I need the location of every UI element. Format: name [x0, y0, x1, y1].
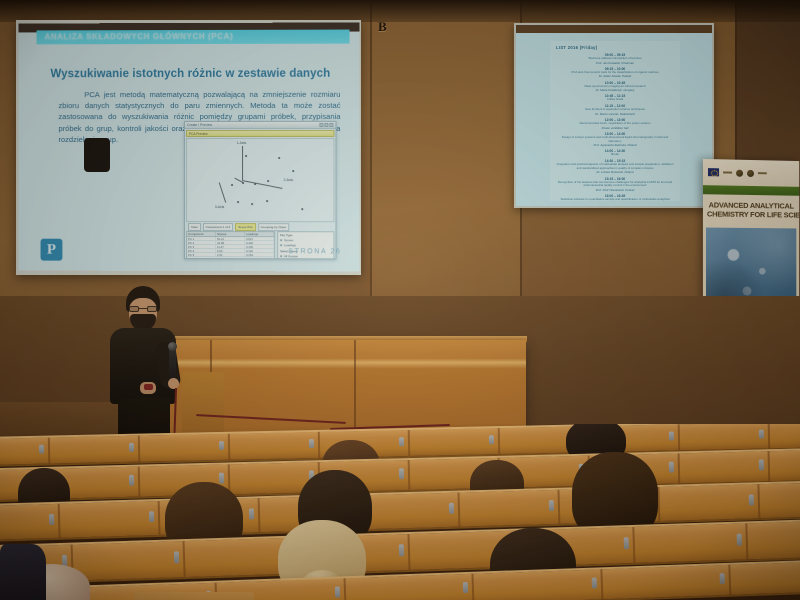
cell-scores: 54.21	[216, 237, 245, 240]
institution-mark-logo	[736, 168, 743, 177]
seat	[747, 520, 800, 560]
agenda-item: 14:00 – 14:30 Break	[556, 149, 674, 157]
plot-axis-3-line	[219, 182, 227, 203]
app-address-bar[interactable]: PCA Preview	[186, 130, 334, 137]
plot-type-label: Plot Type	[280, 233, 331, 237]
plot-point	[301, 208, 303, 210]
pca-score-plot[interactable]: 1-Axis 2-Axis 3-Axis	[186, 138, 334, 222]
seat-clip	[669, 432, 674, 441]
plot-axis-label-1: 1-Axis	[237, 141, 246, 145]
banner-logo-strip	[703, 159, 799, 187]
glasses-lens-right	[147, 306, 157, 312]
column-header-scores: Scores	[216, 232, 245, 236]
radio-icon[interactable]	[280, 239, 283, 242]
radio-icon[interactable]	[280, 244, 283, 247]
glasses-bridge	[139, 308, 147, 309]
seat-clip	[399, 437, 404, 446]
projection-screen-secondary: LIST 2016 (Friday) 09:00 – 09:15 Welcome…	[514, 23, 714, 208]
agenda-speaker: Prof. Agnieszka Zielinska, Poland	[556, 143, 674, 147]
agenda-speaker: Dr. Lukasz Rozanski, Poland	[556, 170, 674, 174]
presentation-clicker	[144, 384, 153, 390]
close-button[interactable]	[329, 123, 333, 127]
seat-clip	[399, 469, 404, 479]
agenda-item: 10:45 – 11:15 Coffee break	[556, 94, 674, 102]
agenda-speaker: Dr. Marco Lanotte, Switzerland	[556, 112, 674, 116]
seat-clip	[129, 475, 134, 485]
seat	[770, 449, 800, 481]
seat	[72, 541, 186, 581]
projection-screen-main: ANALIZA SKŁADOWYCH GŁÓWNYCH (PCA) Wyszuk…	[16, 20, 361, 275]
agenda-speaker: Dr. Maria Kowalczyk, Hungary	[556, 88, 674, 92]
seat-clip	[720, 573, 725, 583]
seat-clip	[449, 502, 454, 514]
seat-clip	[489, 436, 494, 445]
seat-clip	[219, 473, 224, 483]
seat	[731, 560, 800, 594]
seat-clip	[309, 439, 314, 448]
plot-point	[251, 203, 253, 205]
toolbar-chip-grouping[interactable]: Grouping by Class	[258, 223, 290, 231]
seat-clip	[335, 587, 340, 597]
cell-component: PC 5	[187, 253, 216, 256]
seat-clip	[149, 511, 154, 523]
audience-shoulder	[0, 544, 46, 600]
seat	[360, 493, 461, 530]
slide-page-number: STRONA 26	[288, 248, 341, 255]
cell-loadings: 0.054	[245, 253, 274, 256]
eu-flag-logo	[708, 168, 719, 177]
seat	[140, 434, 231, 462]
plot-point	[278, 157, 280, 159]
agenda-speaker: Prof. Piotr Wisniewski, Poland	[556, 188, 674, 192]
seat	[680, 451, 771, 483]
agenda-item: 16:00 – 16:45 Statistical software for q…	[556, 194, 674, 201]
toolbar-chip-score-plot[interactable]: Score Plot	[235, 223, 255, 231]
slide-title: Wyszukiwanie istotnych różnic w zestawie…	[50, 68, 339, 80]
agenda-desc: Statistical software for quantitative sa…	[556, 198, 674, 201]
seat-clip	[736, 534, 741, 546]
screen-top-shadow	[516, 25, 712, 33]
seat-clip	[129, 443, 134, 452]
seat	[230, 432, 321, 460]
cell-component: PC 4	[187, 249, 216, 252]
banner-headline-line2: CHEMISTRY FOR LIFE SCIENCES	[707, 209, 795, 219]
seat-clip	[759, 460, 764, 470]
ceiling-shadow	[0, 0, 800, 22]
seat	[50, 436, 141, 464]
seat	[474, 569, 604, 600]
cell-loadings: 0.295	[245, 245, 274, 248]
radio-label: Scores	[284, 238, 293, 242]
plot-point	[243, 182, 245, 184]
seat-clip	[174, 551, 179, 563]
presenter	[96, 286, 192, 446]
seat	[345, 574, 475, 600]
table-row[interactable]: PC 5 2.91 0.054	[187, 253, 274, 257]
seat	[602, 565, 732, 599]
radio-icon[interactable]	[280, 255, 283, 258]
plot-point	[237, 201, 239, 203]
agenda-item: 10:00 – 10:45 Mass spectrometry imaging …	[556, 81, 674, 93]
column-header-component: Component	[187, 232, 216, 236]
plot-point	[245, 155, 247, 157]
radio-label: Loadings	[284, 243, 296, 247]
projection-screen-main-surface: ANALIZA SKŁADOWYCH GŁÓWNYCH (PCA) Wyszuk…	[19, 23, 360, 272]
app-title-label: Create / Preview	[187, 123, 212, 127]
auditorium-seating	[0, 424, 800, 600]
presenter-hand-holding-microphone	[168, 378, 179, 389]
presentation-logo: P	[41, 239, 63, 261]
radio-option-scores[interactable]: Scores	[280, 238, 331, 242]
seat	[410, 428, 501, 456]
cell-loadings: 0.446	[245, 241, 274, 244]
seat-clip	[759, 430, 764, 439]
agenda-item: 14:30 – 15:15 Integration and practical …	[556, 159, 674, 174]
minimize-button[interactable]	[319, 123, 323, 127]
agenda-slide: LIST 2016 (Friday) 09:00 – 09:15 Welcome…	[550, 41, 680, 201]
seat-clip	[549, 499, 554, 511]
app-address-value: PCA Preview	[189, 131, 208, 135]
seat	[659, 484, 760, 521]
banner-headline: ADVANCED ANALYTICAL CHEMISTRY FOR LIFE S…	[703, 194, 799, 223]
column-header-loadings: Loadings	[245, 232, 274, 236]
agenda-desc: Break	[556, 153, 674, 157]
plot-axis-label-3: 3-Axis	[215, 205, 224, 209]
plot-point	[254, 183, 256, 185]
plot-axis-label-2: 2-Axis	[284, 178, 293, 182]
seat	[60, 501, 161, 538]
toolbar-chip-component[interactable]: Component 1 of 3	[203, 223, 234, 231]
seat	[0, 438, 50, 466]
agenda-item: 13:00 – 14:00 Design of solvent systems …	[556, 132, 674, 147]
plot-axis-2-line	[242, 180, 282, 189]
cell-scores: 23.08	[216, 241, 245, 244]
seat-clip	[39, 445, 44, 454]
wall-seam	[370, 0, 372, 300]
agenda-desc: Integration and practical aspects of mul…	[556, 163, 674, 170]
component-table[interactable]: Component Scores Loadings PC 1 54.21 0.8…	[186, 231, 275, 259]
agenda-item: 09:00 – 09:15 Welcome address Introducti…	[556, 53, 674, 65]
seat	[759, 481, 800, 518]
app-window-buttons	[319, 123, 333, 127]
seat-clip	[463, 582, 468, 592]
agenda-item: 12:00 – 13:00 Recommended lunch, registr…	[556, 118, 674, 130]
agenda-speaker: Prof. Jan Kowalski, Chairman	[556, 61, 674, 65]
agenda-item: 11:15 – 12:00 New frontiers in separatio…	[556, 104, 674, 116]
cell-component: PC 1	[187, 237, 216, 240]
app-plot-toolbar: View Component 1 of 3 Score Plot Groupin…	[186, 223, 334, 230]
seat-clip	[249, 508, 254, 520]
seat	[770, 424, 800, 448]
agenda-speaker: Dr. Adam Nowak, Poland	[556, 74, 674, 78]
seat-clip	[624, 537, 629, 549]
plot-axis-1-line	[243, 146, 244, 180]
cell-component: PC 3	[187, 245, 216, 248]
agenda-item: 15:15 – 16:00 Recognition of the feature…	[556, 177, 674, 192]
agenda-desc: Design of solvent systems and multi-dime…	[556, 136, 674, 143]
agenda-item: 09:15 – 10:00 PCA and chemometric tools …	[556, 67, 674, 79]
lecture-hall-photo: B C ANALIZA SKŁADOWYCH GŁÓWNYCH (PCA) Wy…	[0, 0, 800, 600]
agenda-desc: Coffee break	[556, 98, 674, 102]
cell-loadings: 0.812	[245, 237, 274, 240]
seat-clip	[399, 544, 404, 556]
seat-clip	[749, 494, 754, 506]
plot-point	[266, 200, 268, 202]
plot-point	[292, 170, 294, 172]
seat	[460, 490, 561, 527]
seat-clip	[592, 578, 597, 588]
agenda-desc: Recognition of the features that can bec…	[556, 181, 674, 188]
agenda-slide-title: LIST 2016 (Friday)	[556, 45, 674, 50]
cell-scores: 11.47	[216, 245, 245, 248]
seat-clip	[49, 513, 54, 525]
cell-loadings: 0.118	[245, 249, 274, 252]
slide-section-banner: ANALIZA SKŁADOWYCH GŁÓWNYCH (PCA)	[37, 30, 350, 45]
plot-point	[231, 184, 233, 186]
maximize-button[interactable]	[324, 123, 328, 127]
seat-clip	[669, 462, 674, 472]
partner-mark-logo	[747, 168, 754, 177]
cell-scores: 6.03	[216, 249, 245, 252]
projection-screen-secondary-surface: LIST 2016 (Friday) 09:00 – 09:15 Welcome…	[516, 25, 712, 206]
radio-option-loadings[interactable]: Loadings	[280, 243, 331, 247]
agenda-speaker: Poster exhibition hall	[556, 126, 674, 130]
embedded-app-window: Create / Preview PCA Preview	[184, 121, 336, 259]
seat-clip	[219, 441, 224, 450]
app-titlebar: Create / Preview	[185, 122, 335, 129]
cell-component: PC 2	[187, 241, 216, 244]
bag-on-floor	[84, 138, 110, 172]
cell-scores: 2.91	[216, 253, 245, 256]
toolbar-chip-view[interactable]: View	[188, 222, 201, 230]
funding-emblem-logo	[723, 168, 732, 177]
seat	[0, 504, 61, 541]
seat	[680, 424, 771, 450]
seat-front-edge	[134, 592, 254, 600]
wall-center	[370, 0, 530, 340]
glasses-lens-left	[129, 306, 139, 312]
door-label-b: B	[378, 19, 387, 35]
seat	[634, 523, 748, 563]
plot-point	[267, 180, 269, 182]
glasses-icon	[129, 306, 157, 312]
programme-bar-logo	[758, 169, 767, 178]
microphone-icon	[169, 346, 176, 380]
